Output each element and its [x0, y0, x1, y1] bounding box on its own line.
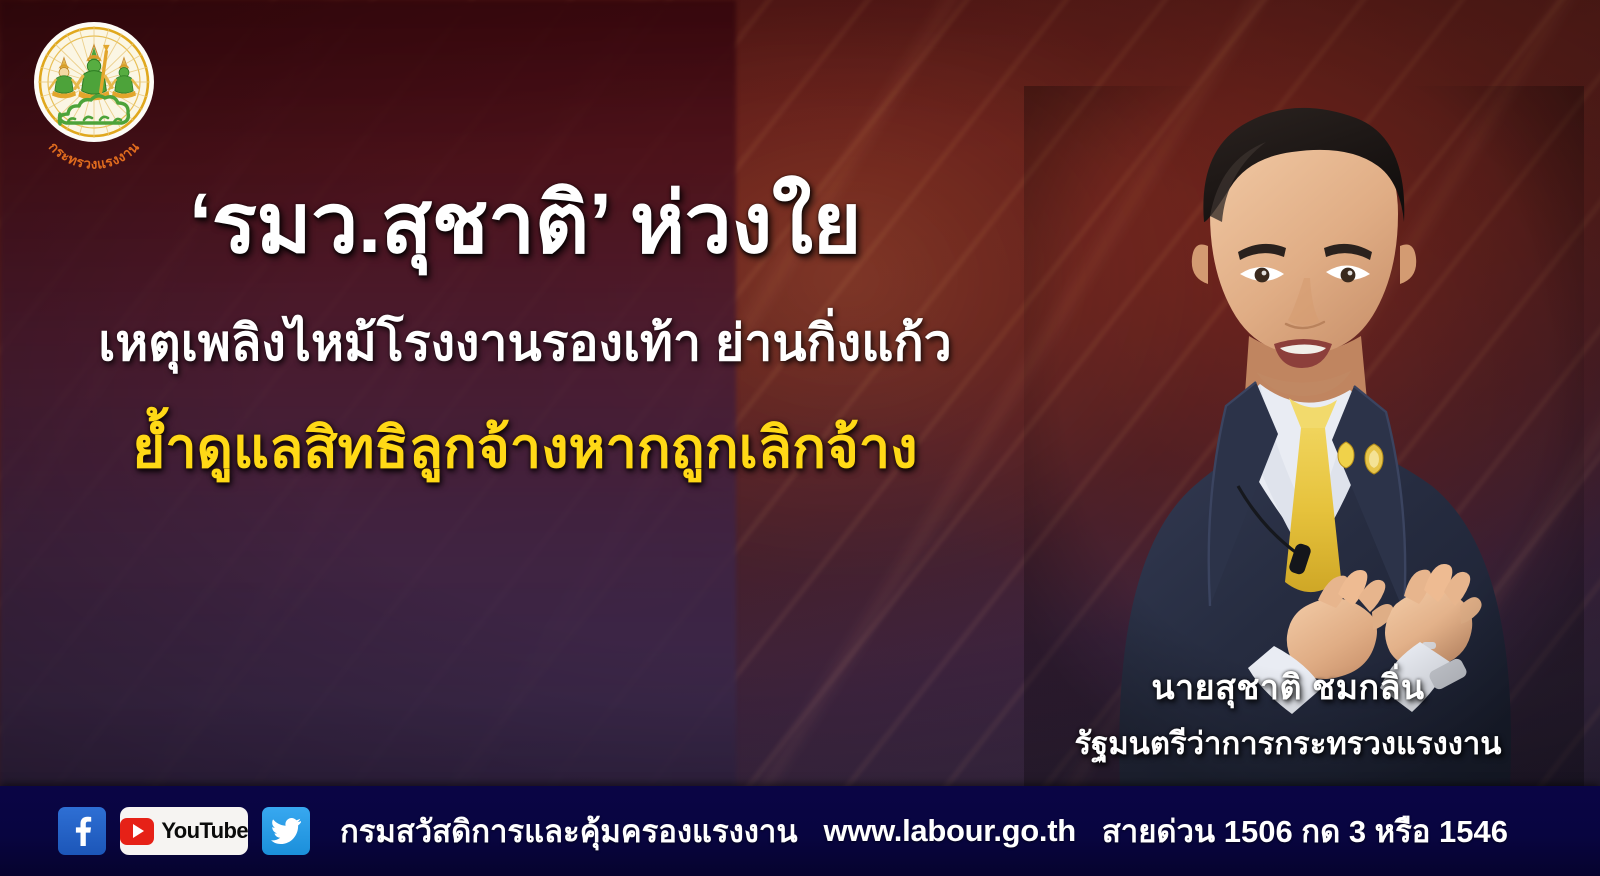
minister-title: รัฐมนตรีว่าการกระทรวงแรงงาน — [1028, 718, 1548, 768]
twitter-icon[interactable] — [262, 807, 310, 855]
portrait-caption: นายสุชาติ ชมกลิ่น รัฐมนตรีว่าการกระทรวงแ… — [1028, 660, 1548, 768]
minister-name: นายสุชาติ ชมกลิ่น — [1028, 660, 1548, 714]
footer-department: กรมสวัสดิการและคุ้มครองแรงงาน — [340, 806, 798, 856]
facebook-icon[interactable] — [58, 807, 106, 855]
headline-line-1: ‘รมว.สุชาติ’ ห่วงใย — [10, 176, 1040, 270]
ministry-of-labour-seal-icon: กระทรวงแรงงาน — [22, 16, 166, 170]
announcement-banner: กระทรวงแรงงาน — [0, 0, 1600, 876]
headline-line-2: เหตุเพลิงไหม้โรงงานรองเท้า ย่านกิ่งแก้ว — [10, 314, 1040, 373]
footer-hotline: สายด่วน 1506 กด 3 หรือ 1546 — [1102, 806, 1508, 856]
headline-block: ‘รมว.สุชาติ’ ห่วงใย เหตุเพลิงไหม้โรงงานร… — [0, 176, 1040, 481]
footer-website[interactable]: www.labour.go.th — [824, 813, 1076, 849]
youtube-play-icon — [120, 818, 154, 845]
svg-text:กระทรวงแรงงาน: กระทรวงแรงงาน — [46, 139, 142, 170]
footer-text-group: กรมสวัสดิการและคุ้มครองแรงงาน www.labour… — [340, 806, 1508, 856]
youtube-label: YouTube — [161, 818, 248, 844]
headline-line-3: ย้ำดูแลสิทธิลูกจ้างหากถูกเลิกจ้าง — [10, 415, 1040, 481]
seal-caption: กระทรวงแรงงาน — [46, 139, 142, 170]
footer-bar: YouTube กรมสวัสดิการและคุ้มครองแรงงาน ww… — [0, 786, 1600, 876]
social-icon-group: YouTube — [58, 807, 310, 855]
youtube-icon[interactable]: YouTube — [120, 807, 248, 855]
